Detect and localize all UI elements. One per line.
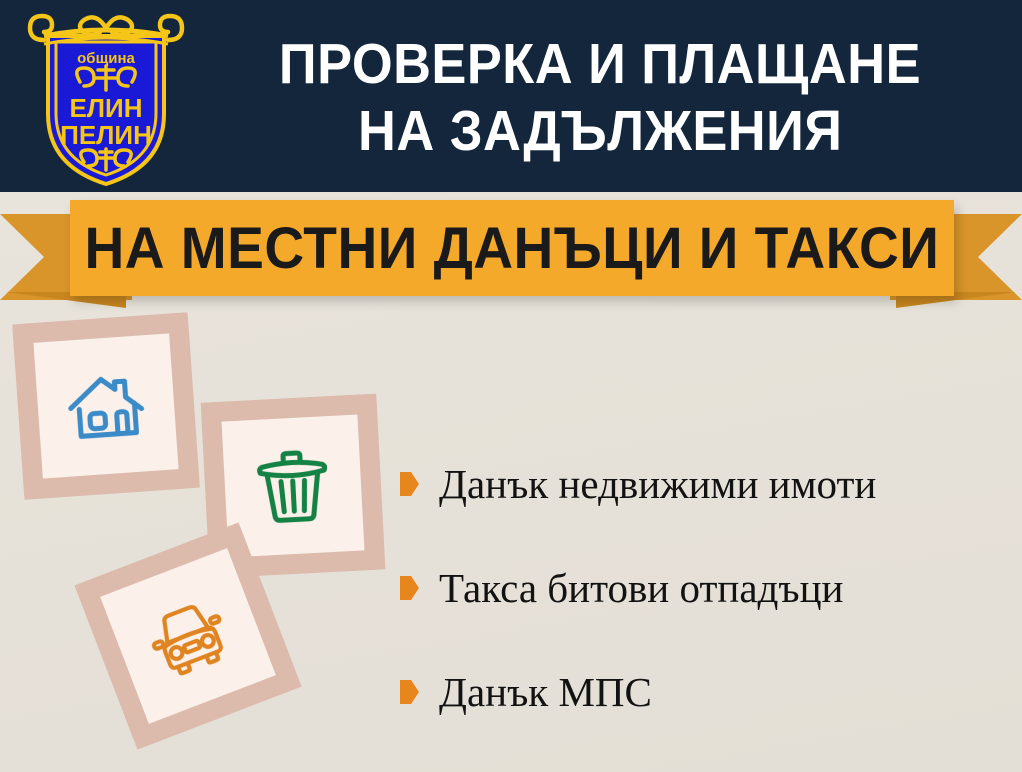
house-icon (61, 361, 151, 451)
bullet-arrow-icon (400, 680, 419, 704)
stamp-paper (33, 333, 178, 478)
list-item: Такса битови отпадъци (400, 536, 1010, 640)
subtitle-ribbon: НА МЕСТНИ ДАНЪЦИ И ТАКСИ (0, 192, 1022, 312)
logo-text-pelin: ПЕЛИН (60, 120, 152, 150)
bullet-arrow-icon (400, 472, 419, 496)
tax-type-list: Данък недвижими имоти Такса битови отпад… (400, 432, 1010, 744)
ribbon-band: НА МЕСТНИ ДАНЪЦИ И ТАКСИ (70, 200, 954, 296)
poster-canvas: община ЕЛИН ПЕЛИН ПРОВЕРКА И ПЛАЩАНЕ НА … (0, 0, 1022, 772)
list-item-label: Данък МПС (439, 672, 652, 713)
stamp-paper (100, 548, 276, 724)
list-item-label: Данък недвижими имоти (439, 464, 876, 505)
elin-pelin-municipality-coat-of-arms-logo: община ЕЛИН ПЕЛИН (22, 6, 190, 188)
bullet-arrow-icon (400, 576, 419, 600)
page-title-line-2: НА ЗАДЪЛЖЕНИЯ (358, 98, 842, 165)
list-item-label: Такса битови отпадъци (439, 568, 843, 609)
list-item: Данък недвижими имоти (400, 432, 1010, 536)
trash-bin-icon (249, 442, 337, 530)
ribbon-label: НА МЕСТНИ ДАНЪЦИ И ТАКСИ (85, 215, 940, 282)
stamp-card-property (12, 312, 200, 500)
page-title-line-1: ПРОВЕРКА И ПЛАЩАНЕ (279, 31, 921, 98)
page-title: ПРОВЕРКА И ПЛАЩАНЕ НА ЗАДЪЛЖЕНИЯ (190, 18, 1010, 178)
car-front-icon (134, 582, 243, 691)
list-item: Данък МПС (400, 640, 1010, 744)
logo-text-elin: ЕЛИН (69, 93, 142, 123)
